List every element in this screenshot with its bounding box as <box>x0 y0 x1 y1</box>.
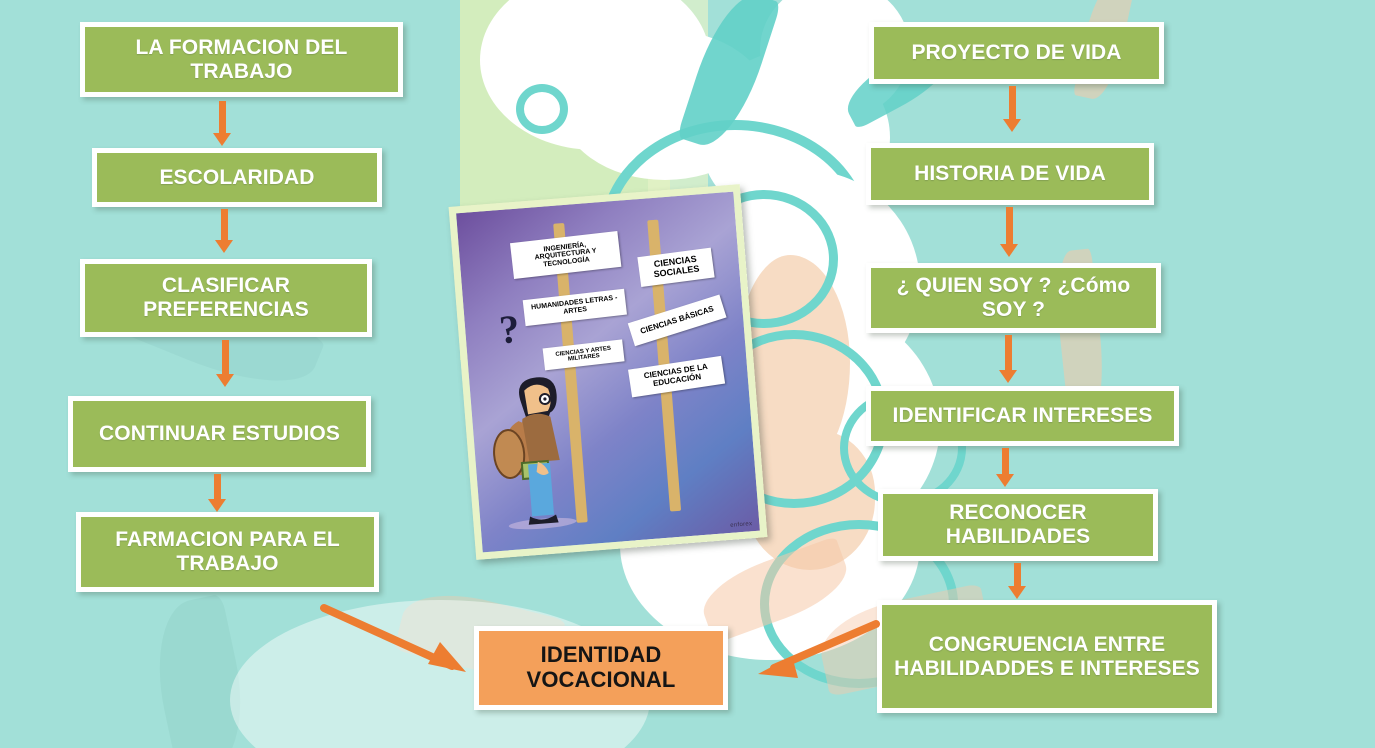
arrow-quien-soy-to-identificar <box>999 335 1017 383</box>
node-continuar-estudios-label: CONTINUAR ESTUDIOS <box>99 422 340 446</box>
arrow-shaft <box>1002 448 1009 474</box>
arrow-head <box>1008 586 1026 599</box>
sign-humanidades-label: HUMANIDADES LETRAS - ARTES <box>527 295 622 321</box>
node-la-formacion-del-trabajo[interactable]: LA FORMACION DEL TRABAJO <box>80 22 403 97</box>
node-quien-soy-como-soy[interactable]: ¿ QUIEN SOY ? ¿Cómo SOY ? <box>866 263 1161 333</box>
node-historia-de-vida[interactable]: HISTORIA DE VIDA <box>866 143 1154 205</box>
node-congruencia-habilidades-intereses[interactable]: CONGRUENCIA ENTRE HABILIDADDES E INTERES… <box>877 600 1217 713</box>
node-reconocer-habilidades-label: RECONOCER HABILIDADES <box>891 501 1145 548</box>
background-palm-1 <box>143 594 257 748</box>
arrow-shaft <box>221 209 228 240</box>
background-flower-blob-2 <box>560 30 770 180</box>
sign-ingenieria: INGENIERÍA, ARQUITECTURA Y TECNOLOGÍA <box>510 231 621 279</box>
arrow-congruencia-to-identidad <box>740 612 900 692</box>
node-escolaridad[interactable]: ESCOLARIDAD <box>92 148 382 207</box>
background-flower-blob-1 <box>480 0 710 150</box>
diagram-canvas: INGENIERÍA, ARQUITECTURA Y TECNOLOGÍA CI… <box>0 0 1375 748</box>
arrow-shaft <box>1005 335 1012 370</box>
arrow-head <box>213 133 231 146</box>
node-quien-soy-como-soy-label: ¿ QUIEN SOY ? ¿Cómo SOY ? <box>879 274 1148 321</box>
career-signpost-illustration: INGENIERÍA, ARQUITECTURA Y TECNOLOGÍA CI… <box>449 184 768 560</box>
illustration-signature: enforex <box>730 521 753 529</box>
node-congruencia-habilidades-intereses-label: CONGRUENCIA ENTRE HABILIDADDES E INTERES… <box>890 633 1204 680</box>
node-reconocer-habilidades[interactable]: RECONOCER HABILIDADES <box>878 489 1158 561</box>
arrow-clasificar-to-continuar <box>216 340 234 387</box>
node-clasificar-preferencias-label: CLASIFICAR PREFERENCIAS <box>93 274 359 321</box>
background-swirl-1 <box>516 84 568 134</box>
sign-humanidades: HUMANIDADES LETRAS - ARTES <box>523 289 627 326</box>
node-continuar-estudios[interactable]: CONTINUAR ESTUDIOS <box>68 396 371 472</box>
arrow-shaft <box>1009 86 1016 119</box>
arrow-head <box>1003 119 1021 132</box>
sign-ciencias-educacion: CIENCIAS DE LA EDUCACIÓN <box>628 356 725 398</box>
arrow-historia-to-quien-soy <box>1000 207 1018 257</box>
arrow-shaft <box>222 340 229 374</box>
sign-ciencias-basicas: CIENCIAS BÁSICAS <box>628 295 727 347</box>
arrow-head <box>1000 244 1018 257</box>
arrow-identificar-to-reconocer <box>996 448 1014 487</box>
node-proyecto-de-vida-label: PROYECTO DE VIDA <box>911 41 1121 65</box>
sign-ingenieria-label: INGENIERÍA, ARQUITECTURA Y TECNOLOGÍA <box>515 238 617 272</box>
node-clasificar-preferencias[interactable]: CLASIFICAR PREFERENCIAS <box>80 259 372 337</box>
arrow-head <box>208 499 226 512</box>
arrow-proyecto-to-historia <box>1003 86 1021 132</box>
arrow-head <box>216 374 234 387</box>
sign-ciencias-sociales-label: CIENCIAS SOCIALES <box>642 253 710 281</box>
node-farmacion-para-el-trabajo[interactable]: FARMACION PARA EL TRABAJO <box>76 512 379 592</box>
node-proyecto-de-vida[interactable]: PROYECTO DE VIDA <box>869 22 1164 84</box>
node-identidad-vocacional[interactable]: IDENTIDAD VOCACIONAL <box>474 626 728 710</box>
arrow-continuar-to-farmacion <box>208 474 226 512</box>
node-historia-de-vida-label: HISTORIA DE VIDA <box>914 162 1106 186</box>
sign-ciencias-educacion-label: CIENCIAS DE LA EDUCACIÓN <box>633 362 721 392</box>
node-identificar-intereses[interactable]: IDENTIFICAR INTERESES <box>866 386 1179 446</box>
node-identidad-vocacional-label: IDENTIDAD VOCACIONAL <box>487 643 715 692</box>
arrow-head <box>999 370 1017 383</box>
arrow-shaft <box>1014 563 1021 586</box>
node-escolaridad-label: ESCOLARIDAD <box>159 166 314 190</box>
arrow-formacion-to-escolaridad <box>213 101 231 146</box>
arrow-farmacion-to-identidad <box>300 596 490 686</box>
node-identificar-intereses-label: IDENTIFICAR INTERESES <box>893 404 1153 428</box>
arrow-shaft <box>1006 207 1013 244</box>
arrow-reconocer-to-congruencia <box>1008 563 1026 599</box>
student-figure-icon <box>484 362 589 534</box>
node-farmacion-para-el-trabajo-label: FARMACION PARA EL TRABAJO <box>89 528 366 575</box>
arrow-head <box>996 474 1014 487</box>
node-la-formacion-del-trabajo-label: LA FORMACION DEL TRABAJO <box>93 36 390 83</box>
question-mark-icon: ? <box>498 305 522 353</box>
arrow-shaft <box>214 474 221 499</box>
arrow-head <box>215 240 233 253</box>
background-leaf-1 <box>677 0 782 155</box>
arrow-escolaridad-to-clasificar <box>215 209 233 253</box>
sign-ciencias-basicas-label: CIENCIAS BÁSICAS <box>639 305 715 336</box>
arrow-shaft <box>219 101 226 133</box>
sign-ciencias-artes-militares-label: CIENCIAS Y ARTES MILITARES <box>547 344 620 365</box>
